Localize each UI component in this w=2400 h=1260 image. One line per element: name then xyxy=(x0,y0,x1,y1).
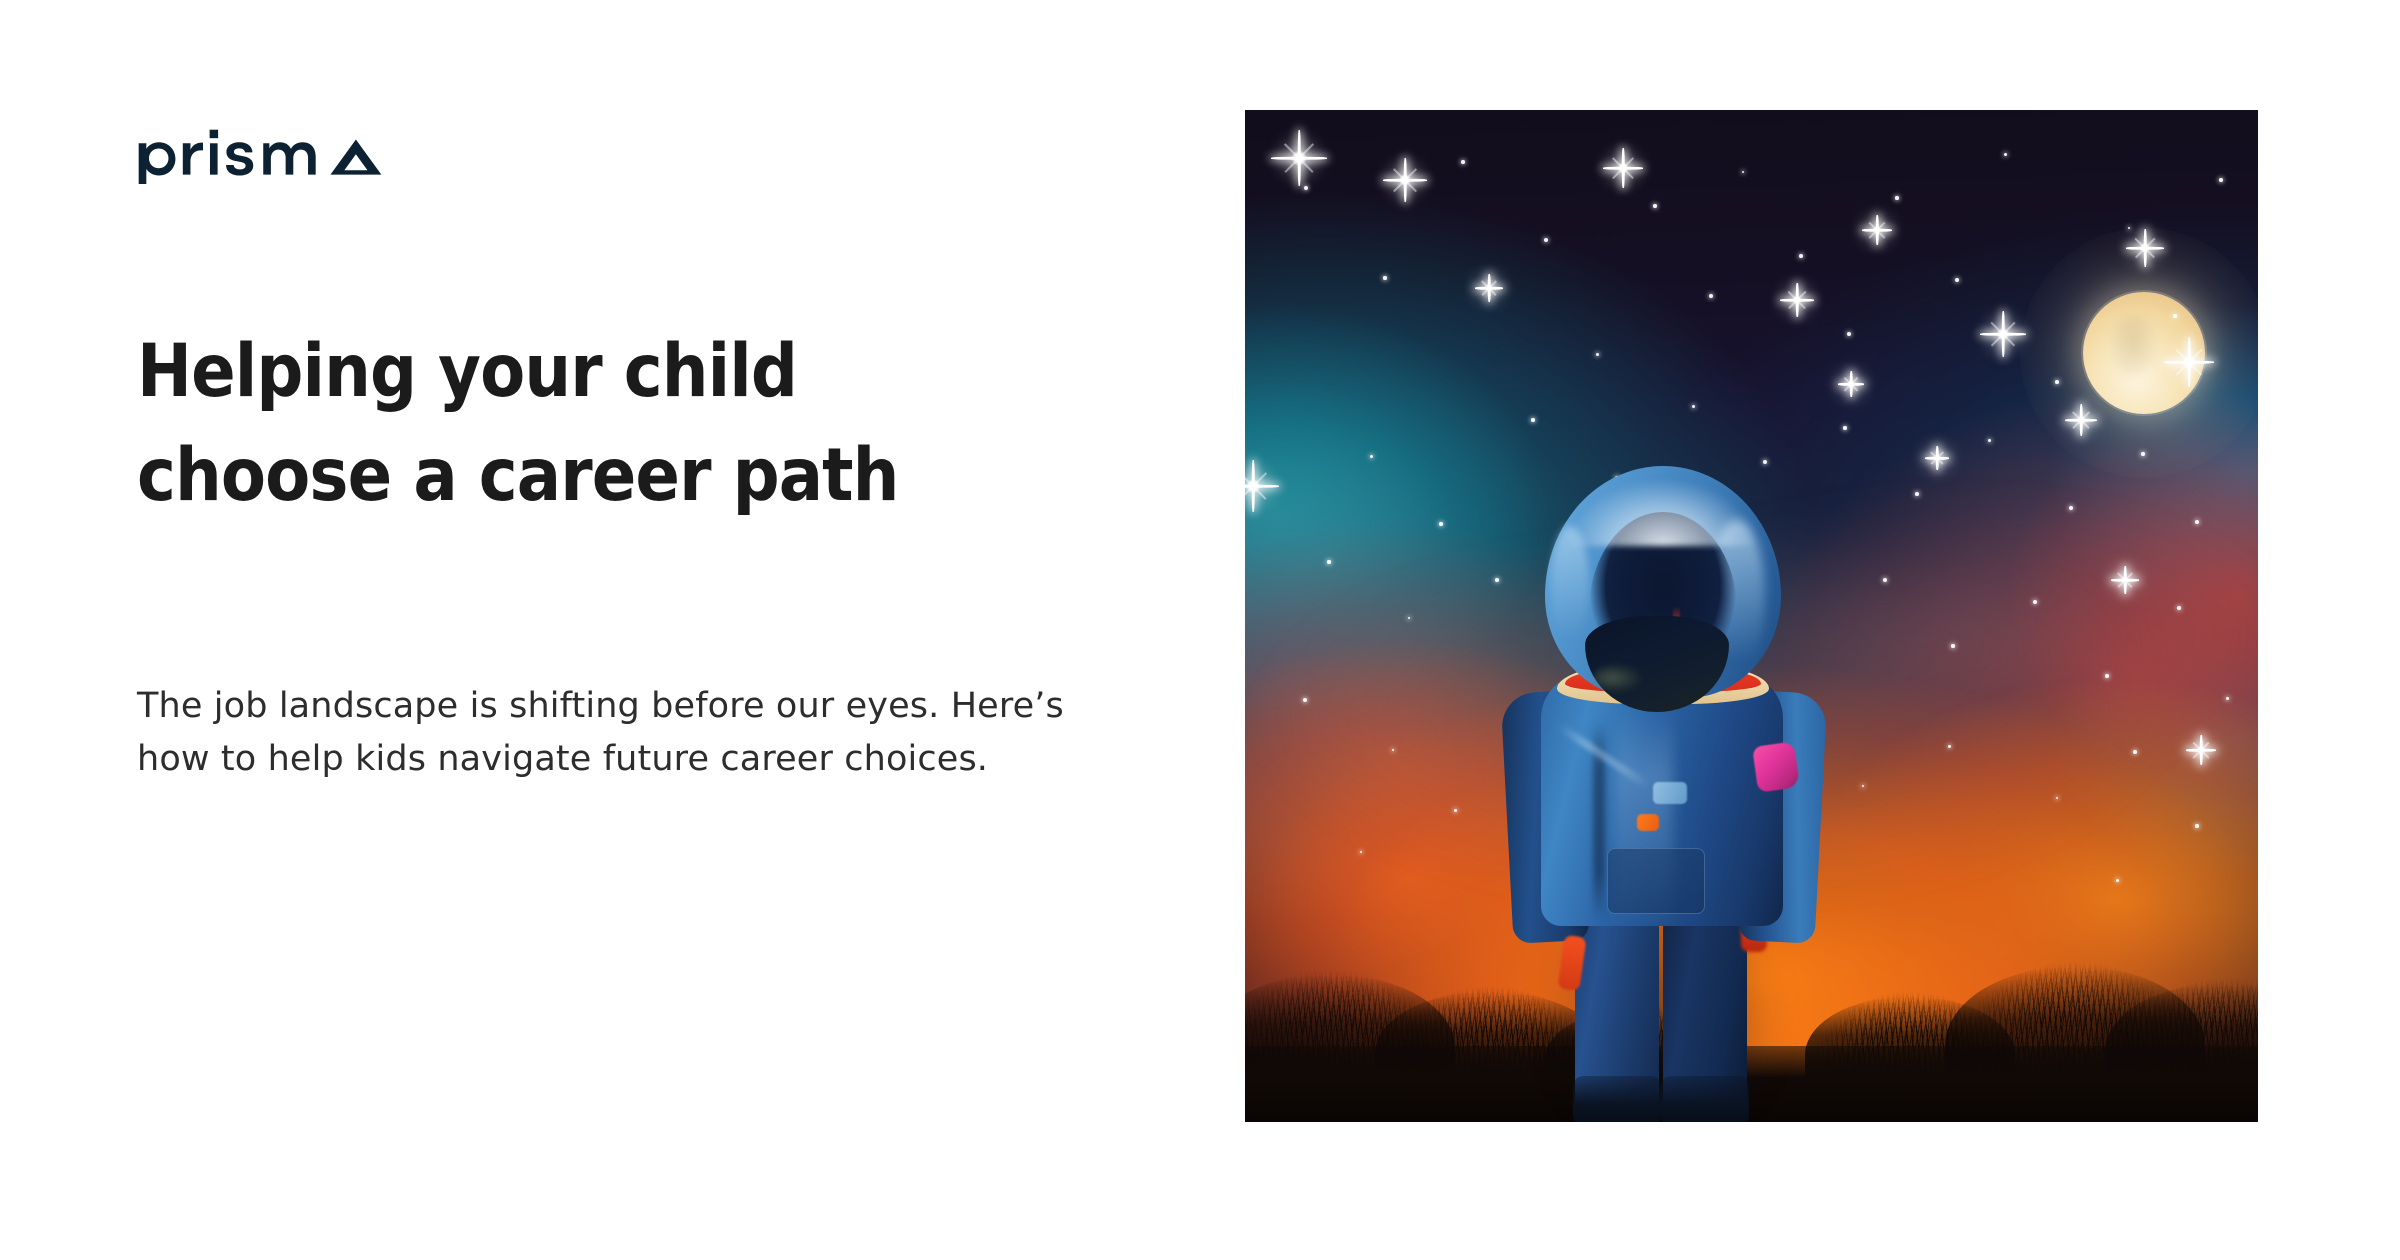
star-flare-diagonal xyxy=(1245,449,1290,523)
headline-line-1: Helping your child xyxy=(137,329,797,414)
star-core xyxy=(1617,162,1629,174)
star-flare-icon xyxy=(1980,311,2026,357)
star-core xyxy=(1291,150,1308,167)
boot-left xyxy=(1573,1076,1661,1122)
star-flare-diagonal xyxy=(1773,276,1821,324)
prisma-logo[interactable] xyxy=(137,128,383,184)
star-flare-icon xyxy=(1475,274,1503,302)
suit-pocket xyxy=(1607,848,1705,914)
visor-gleam xyxy=(1593,664,1641,692)
page-title: Helping your child choose a career path xyxy=(137,320,1097,527)
star-flare-icon xyxy=(1383,158,1427,202)
star-flare-diagonal xyxy=(1259,118,1338,197)
star-flare-diagonal xyxy=(1920,441,1954,475)
star-flare-diagonal xyxy=(1856,209,1898,251)
shoulder-patch-pink xyxy=(1752,741,1800,792)
hero-subcopy: The job landscape is shifting before our… xyxy=(137,680,1072,786)
astronaut-child-figure xyxy=(1497,466,1827,1122)
star-flare-icon xyxy=(1780,283,1814,317)
star-core xyxy=(2076,415,2086,425)
hero-illustration xyxy=(1245,110,2258,1122)
hood-rim-light xyxy=(1541,460,1785,546)
star-flare-icon xyxy=(1245,460,1279,512)
star-core xyxy=(2182,355,2197,370)
star-flare-diagonal xyxy=(2058,397,2103,442)
suit-patch-blue xyxy=(1653,782,1687,804)
star-flare-diagonal xyxy=(1469,268,1509,308)
star-flare-diagonal xyxy=(2105,560,2145,600)
star-flare-icon xyxy=(2164,337,2214,387)
prisma-wordmark-icon xyxy=(137,128,383,184)
star-flare-icon xyxy=(2186,735,2216,765)
star-flare-icon xyxy=(1925,446,1949,470)
star-flare-diagonal xyxy=(2180,729,2222,771)
star-flare-icon xyxy=(1838,371,1864,397)
star-flare-diagonal xyxy=(1970,301,2035,366)
star-flare-diagonal xyxy=(2118,221,2172,275)
headline-line-2: choose a career path xyxy=(137,433,899,518)
star-flare-diagonal xyxy=(1833,366,1870,403)
star-core xyxy=(1996,327,2010,341)
boot-right xyxy=(1661,1076,1749,1122)
star-flare-diagonal xyxy=(1374,149,1436,211)
star-flare-icon xyxy=(1271,130,1327,186)
star-flare-icon xyxy=(2111,566,2139,594)
hero-text-column: Helping your child choose a career path … xyxy=(137,0,1157,1260)
star-core xyxy=(2197,746,2206,755)
star-flare-icon xyxy=(2126,229,2164,267)
star-core xyxy=(1245,478,1261,494)
suit-patch-orange xyxy=(1637,814,1659,831)
star-flare-diagonal xyxy=(1595,140,1652,197)
star-core xyxy=(1847,380,1855,388)
star-flare-diagonal xyxy=(2154,327,2225,398)
star-flare-icon xyxy=(2065,404,2097,436)
star-flare-icon xyxy=(1862,215,1892,245)
star-flare-icon xyxy=(1603,148,1643,188)
star-core xyxy=(1873,226,1882,235)
